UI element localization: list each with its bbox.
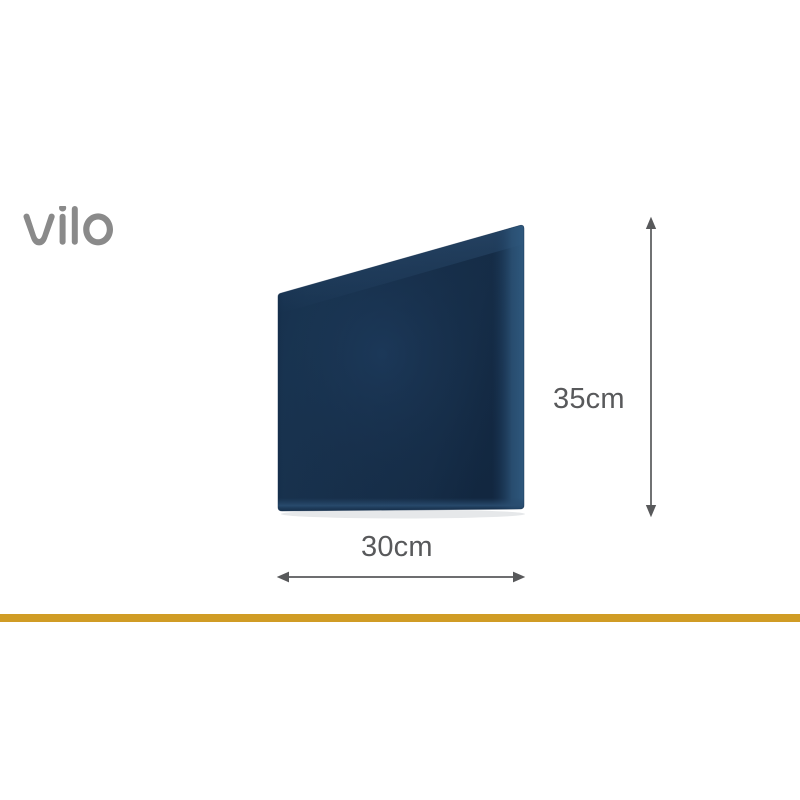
brand-accent-bar: [0, 614, 800, 622]
vilo-wordmark-glyphs: [24, 206, 114, 245]
width-dimension-arrow: [272, 566, 530, 590]
width-dimension-label: 30cm: [361, 531, 433, 564]
height-dimension-label: 35cm: [553, 383, 625, 416]
product-panel-image: [270, 218, 536, 520]
product-image-canvas: vilo: [0, 0, 800, 800]
height-dimension-arrow: [636, 214, 666, 520]
vilo-logo: vilo: [20, 206, 130, 254]
panel-body: [270, 218, 536, 520]
